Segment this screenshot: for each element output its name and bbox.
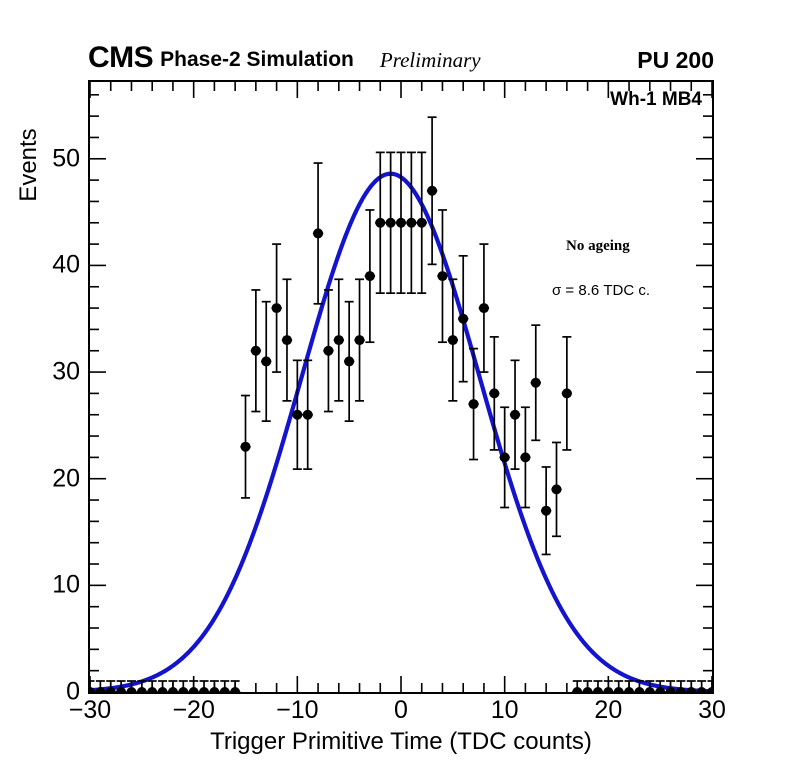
data-point-marker [158, 687, 168, 692]
data-point-marker [386, 218, 396, 228]
cms-subtitle: Phase-2 Simulation [160, 49, 354, 73]
data-point-marker [251, 346, 261, 356]
x-tick-label-0: 0 [394, 698, 408, 723]
data-point-marker [147, 687, 157, 692]
data-point-marker [199, 687, 209, 692]
data-point-marker [334, 335, 344, 345]
data-point-marker [209, 687, 219, 692]
data-point-marker [406, 218, 416, 228]
y-axis-title: Events [16, 95, 42, 235]
data-point-marker [282, 335, 292, 345]
x-axis-title: Trigger Primitive Time (TDC counts) [88, 729, 714, 755]
data-point-marker [500, 452, 510, 462]
data-point-marker [686, 687, 696, 692]
data-point-marker [189, 687, 199, 692]
data-point-marker [448, 335, 458, 345]
data-point-marker [417, 218, 427, 228]
data-point-marker [427, 186, 437, 196]
x-tick-label--10: −10 [276, 698, 318, 723]
data-point-marker [355, 335, 365, 345]
data-point-marker [593, 687, 603, 692]
cms-preliminary-text: Preliminary [380, 49, 481, 73]
data-point-marker [531, 378, 541, 388]
data-point-marker [375, 218, 385, 228]
x-tick-label--20: −20 [172, 698, 214, 723]
data-point-marker [572, 687, 582, 692]
y-tick-label-30: 30 [22, 360, 80, 385]
data-point-marker [303, 410, 313, 420]
data-point-marker [707, 687, 712, 692]
data-point-marker [469, 399, 479, 409]
x-tick-label-10: 10 [491, 698, 519, 723]
data-point-marker [323, 346, 333, 356]
data-point-marker [562, 388, 572, 398]
data-point-marker [90, 687, 95, 692]
y-tick-label-0: 0 [22, 680, 80, 705]
data-point-marker [137, 687, 147, 692]
chamber-label: Wh-1 MB4 [610, 90, 702, 110]
pileup-label: PU 200 [637, 48, 714, 73]
data-point-marker [624, 687, 634, 692]
plot-frame: Wh-1 MB4 No ageing σ = 8.6 TDC c. [88, 80, 714, 694]
data-point-marker [583, 687, 593, 692]
data-point-marker [697, 687, 707, 692]
plot-canvas: CMS Phase-2 Simulation Preliminary PU 20… [0, 0, 796, 772]
data-point-marker [510, 410, 520, 420]
y-tick-label-20: 20 [22, 466, 80, 491]
data-point-marker [552, 484, 562, 494]
data-point-marker [220, 687, 230, 692]
data-point-marker [489, 388, 499, 398]
data-point-marker [272, 303, 282, 313]
data-point-marker [437, 271, 447, 281]
data-point-marker [396, 218, 406, 228]
data-point-marker [603, 687, 613, 692]
data-point-marker [261, 356, 271, 366]
data-point-marker [344, 356, 354, 366]
data-point-marker [645, 687, 655, 692]
data-point-marker [126, 687, 136, 692]
cms-logo-text: CMS [88, 43, 153, 73]
data-point-marker [458, 314, 468, 324]
annotation-sigma: σ = 8.6 TDC c. [552, 283, 650, 299]
cms-header: CMS Phase-2 Simulation Preliminary PU 20… [88, 41, 714, 73]
data-point-marker [365, 271, 375, 281]
data-point-marker [178, 687, 188, 692]
data-point-marker [230, 687, 240, 692]
data-point-marker [168, 687, 178, 692]
data-point-marker [292, 410, 302, 420]
data-point-marker [520, 452, 530, 462]
data-point-marker [541, 506, 551, 516]
y-tick-label-40: 40 [22, 253, 80, 278]
x-tick-label-30: 30 [698, 698, 726, 723]
x-tick-label-20: 20 [594, 698, 622, 723]
data-point-marker [241, 442, 251, 452]
annotation-condition: No ageing [566, 238, 630, 254]
data-point-marker [634, 687, 644, 692]
data-point-marker [479, 303, 489, 313]
data-point-marker [614, 687, 624, 692]
data-point-marker [313, 228, 323, 238]
y-tick-label-10: 10 [22, 573, 80, 598]
plot-area [90, 82, 712, 692]
